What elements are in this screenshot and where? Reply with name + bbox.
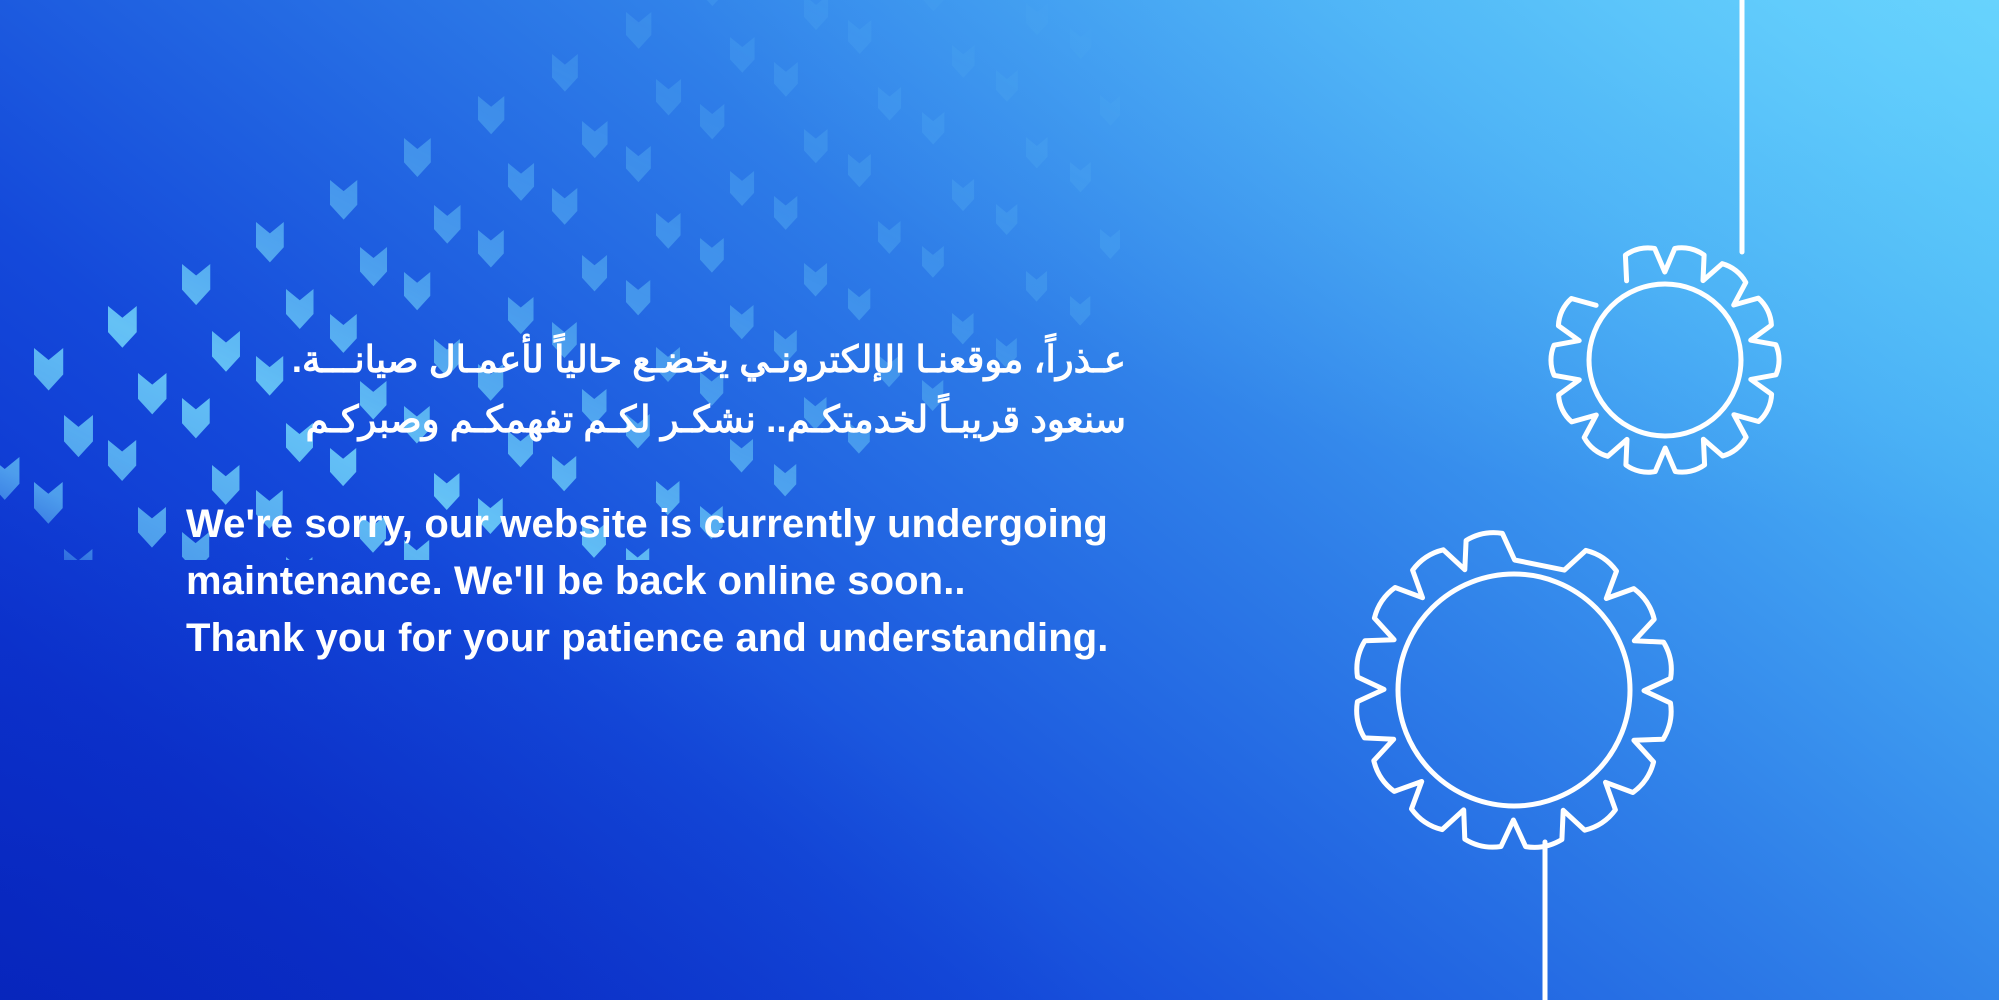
english-line-3: Thank you for your patience and understa… [186, 610, 1186, 667]
english-line-1: We're sorry, our website is currently un… [186, 496, 1186, 553]
arabic-message: عـذراً، موقعنـا الإلكترونـي يخضـع حالياً… [186, 330, 1126, 450]
message-block: عـذراً، موقعنـا الإلكترونـي يخضـع حالياً… [186, 330, 1186, 667]
english-message: We're sorry, our website is currently un… [186, 496, 1186, 667]
arabic-line-1: عـذراً، موقعنـا الإلكترونـي يخضـع حالياً… [186, 330, 1126, 390]
maintenance-page: عـذراً، موقعنـا الإلكترونـي يخضـع حالياً… [0, 0, 1999, 1000]
arabic-line-2: سنعود قريبـاً لخدمتكـم.. نشكـر لكـم تفهم… [186, 390, 1126, 450]
english-line-2: maintenance. We'll be back online soon.. [186, 553, 1186, 610]
